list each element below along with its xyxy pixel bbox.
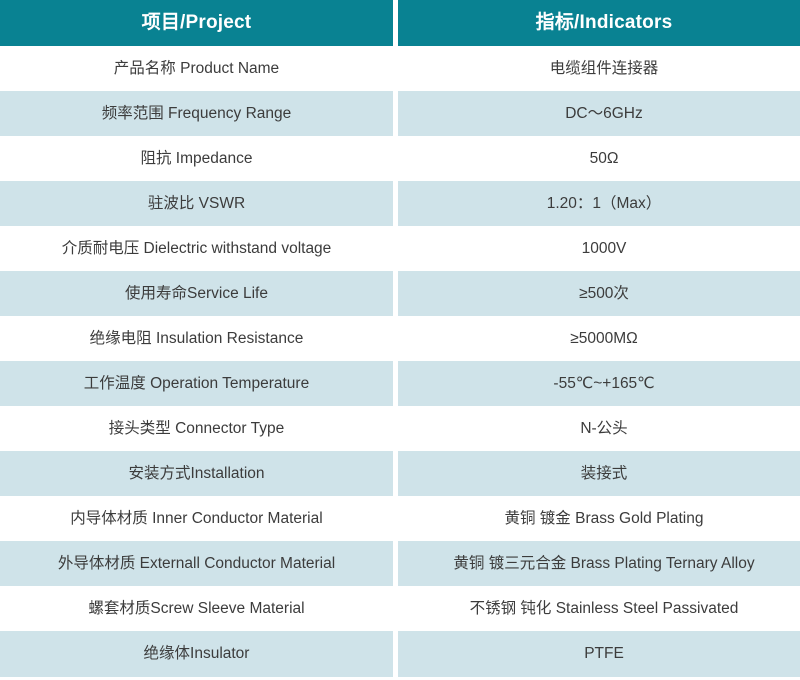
cell-project: 介质耐电压 Dielectric withstand voltage xyxy=(0,226,393,271)
specification-table: 项目/Project 指标/Indicators 产品名称 Product Na… xyxy=(0,0,800,677)
table-row: 使用寿命Service Life≥500次 xyxy=(0,271,800,316)
table-row: 介质耐电压 Dielectric withstand voltage1000V xyxy=(0,226,800,271)
cell-project: 外导体材质 Externall Conductor Material xyxy=(0,541,393,586)
table-row: 外导体材质 Externall Conductor Material黄铜 镀三元… xyxy=(0,541,800,586)
cell-project: 产品名称 Product Name xyxy=(0,46,393,91)
header-cell-indicator: 指标/Indicators xyxy=(398,0,800,46)
table-row: 产品名称 Product Name电缆组件连接器 xyxy=(0,46,800,91)
cell-indicator: PTFE xyxy=(398,631,800,677)
cell-indicator: N-公头 xyxy=(398,406,800,451)
table-row: 螺套材质Screw Sleeve Material不锈钢 钝化 Stainles… xyxy=(0,586,800,631)
cell-project: 绝缘体Insulator xyxy=(0,631,393,677)
table-row: 绝缘电阻 Insulation Resistance≥5000MΩ xyxy=(0,316,800,361)
cell-project: 绝缘电阻 Insulation Resistance xyxy=(0,316,393,361)
table-header: 项目/Project 指标/Indicators xyxy=(0,0,800,46)
table-row: 阻抗 Impedance50Ω xyxy=(0,136,800,181)
cell-indicator: 不锈钢 钝化 Stainless Steel Passivated xyxy=(398,586,800,631)
table-row: 频率范围 Frequency RangeDC～6GHz xyxy=(0,91,800,136)
header-row: 项目/Project 指标/Indicators xyxy=(0,0,800,46)
cell-project: 驻波比 VSWR xyxy=(0,181,393,226)
header-cell-project: 项目/Project xyxy=(0,0,393,46)
cell-project: 螺套材质Screw Sleeve Material xyxy=(0,586,393,631)
cell-project: 阻抗 Impedance xyxy=(0,136,393,181)
cell-project: 工作温度 Operation Temperature xyxy=(0,361,393,406)
cell-project: 使用寿命Service Life xyxy=(0,271,393,316)
cell-indicator: 装接式 xyxy=(398,451,800,496)
table-row: 绝缘体InsulatorPTFE xyxy=(0,631,800,677)
cell-indicator: 1.20：1（Max） xyxy=(398,181,800,226)
cell-indicator: 1000V xyxy=(398,226,800,271)
table-body: 产品名称 Product Name电缆组件连接器频率范围 Frequency R… xyxy=(0,46,800,677)
cell-indicator: -55℃~+165℃ xyxy=(398,361,800,406)
cell-indicator: DC～6GHz xyxy=(398,91,800,136)
cell-project: 内导体材质 Inner Conductor Material xyxy=(0,496,393,541)
table-row: 安装方式Installation装接式 xyxy=(0,451,800,496)
cell-indicator: 50Ω xyxy=(398,136,800,181)
table-row: 驻波比 VSWR1.20：1（Max） xyxy=(0,181,800,226)
cell-project: 频率范围 Frequency Range xyxy=(0,91,393,136)
cell-indicator: 黄铜 镀金 Brass Gold Plating xyxy=(398,496,800,541)
table-row: 工作温度 Operation Temperature-55℃~+165℃ xyxy=(0,361,800,406)
table-row: 接头类型 Connector TypeN-公头 xyxy=(0,406,800,451)
cell-indicator: ≥5000MΩ xyxy=(398,316,800,361)
cell-indicator: 黄铜 镀三元合金 Brass Plating Ternary Alloy xyxy=(398,541,800,586)
cell-indicator: 电缆组件连接器 xyxy=(398,46,800,91)
table-row: 内导体材质 Inner Conductor Material黄铜 镀金 Bras… xyxy=(0,496,800,541)
cell-indicator: ≥500次 xyxy=(398,271,800,316)
cell-project: 接头类型 Connector Type xyxy=(0,406,393,451)
cell-project: 安装方式Installation xyxy=(0,451,393,496)
